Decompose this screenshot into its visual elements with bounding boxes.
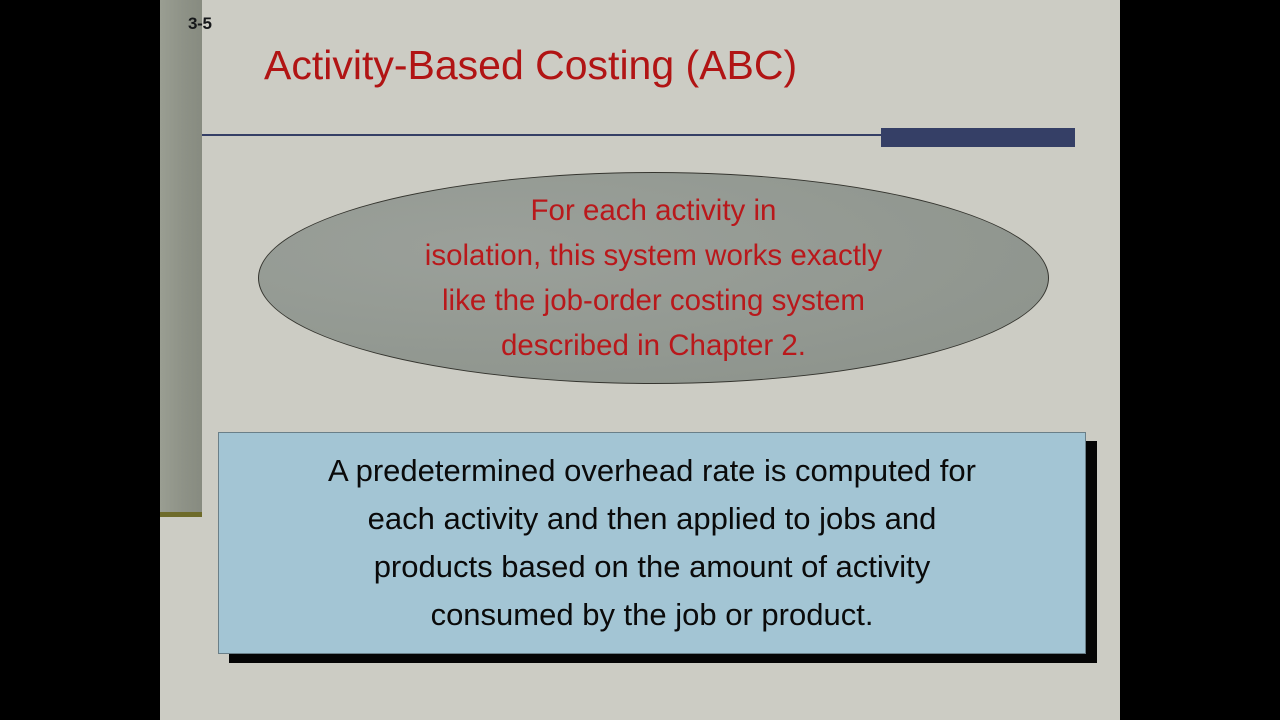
ellipse-callout: For each activity in isolation, this sys… bbox=[258, 172, 1049, 384]
title-divider-rule bbox=[202, 134, 922, 136]
slide-left-accent-band-foot bbox=[160, 512, 202, 517]
slide-number: 3-5 bbox=[188, 14, 212, 34]
slide-left-accent-band bbox=[160, 0, 202, 512]
ellipse-callout-text: For each activity in isolation, this sys… bbox=[385, 188, 922, 368]
presentation-slide: 3-5 Activity-Based Costing (ABC) For eac… bbox=[160, 0, 1120, 720]
screenshot-root: 3-5 Activity-Based Costing (ABC) For eac… bbox=[0, 0, 1280, 720]
page-title: Activity-Based Costing (ABC) bbox=[264, 42, 1064, 89]
statement-callout-text: A predetermined overhead rate is compute… bbox=[310, 447, 994, 639]
statement-callout-box: A predetermined overhead rate is compute… bbox=[218, 432, 1086, 654]
title-accent-block bbox=[881, 128, 1075, 147]
